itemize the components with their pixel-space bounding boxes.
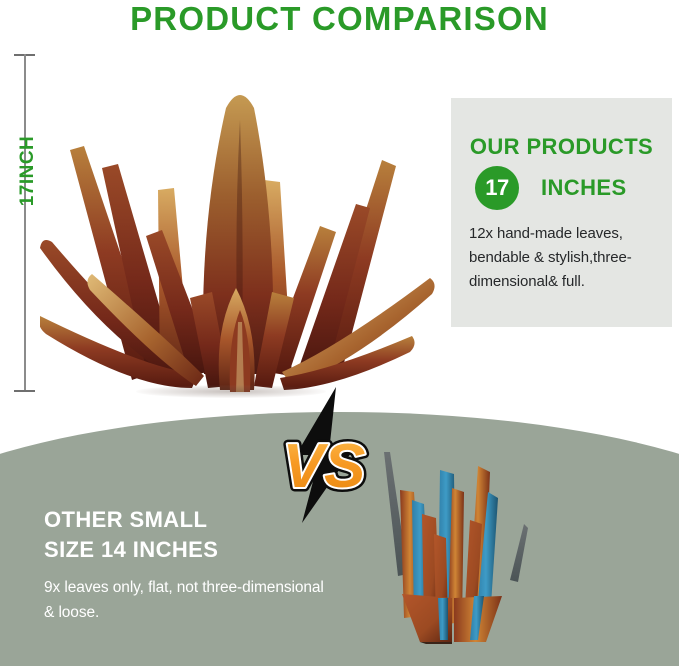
agave-sculpture-graphic bbox=[40, 40, 440, 400]
size-badge: 17 bbox=[475, 166, 519, 210]
other-product-heading: OTHER SMALL SIZE 14 INCHES bbox=[44, 505, 334, 565]
size-row: 17 INCHES bbox=[475, 166, 665, 210]
other-product-image bbox=[378, 448, 528, 644]
other-agave-graphic bbox=[378, 448, 528, 644]
other-heading-line-1: OTHER SMALL bbox=[44, 505, 334, 535]
other-product-description: 9x leaves only, flat, not three-dimensio… bbox=[44, 575, 334, 625]
other-heading-line-2: SIZE 14 INCHES bbox=[44, 535, 334, 565]
product-comparison-page: PRODUCT COMPARISON 17INCH bbox=[0, 0, 679, 666]
other-product-info: OTHER SMALL SIZE 14 INCHES 9x leaves onl… bbox=[44, 505, 334, 625]
our-product-info-card: OUR PRODUCTS 17 INCHES 12x hand-made lea… bbox=[451, 98, 672, 327]
versus-label: VS bbox=[283, 432, 366, 501]
height-measurement-ruler bbox=[14, 54, 35, 392]
our-product-description: 12x hand-made leaves, bendable & stylish… bbox=[469, 222, 659, 294]
ruler-label: 17INCH bbox=[17, 126, 39, 216]
lightning-bolt-icon: VS VS VS bbox=[266, 385, 386, 525]
our-products-headline: OUR PRODUCTS bbox=[451, 134, 672, 160]
page-title: PRODUCT COMPARISON bbox=[0, 0, 679, 38]
ruler-line bbox=[24, 54, 26, 392]
our-product-image bbox=[40, 40, 440, 400]
ruler-bottom-cap bbox=[14, 390, 35, 392]
size-unit-label: INCHES bbox=[541, 175, 627, 201]
versus-badge: VS VS VS bbox=[266, 385, 386, 525]
